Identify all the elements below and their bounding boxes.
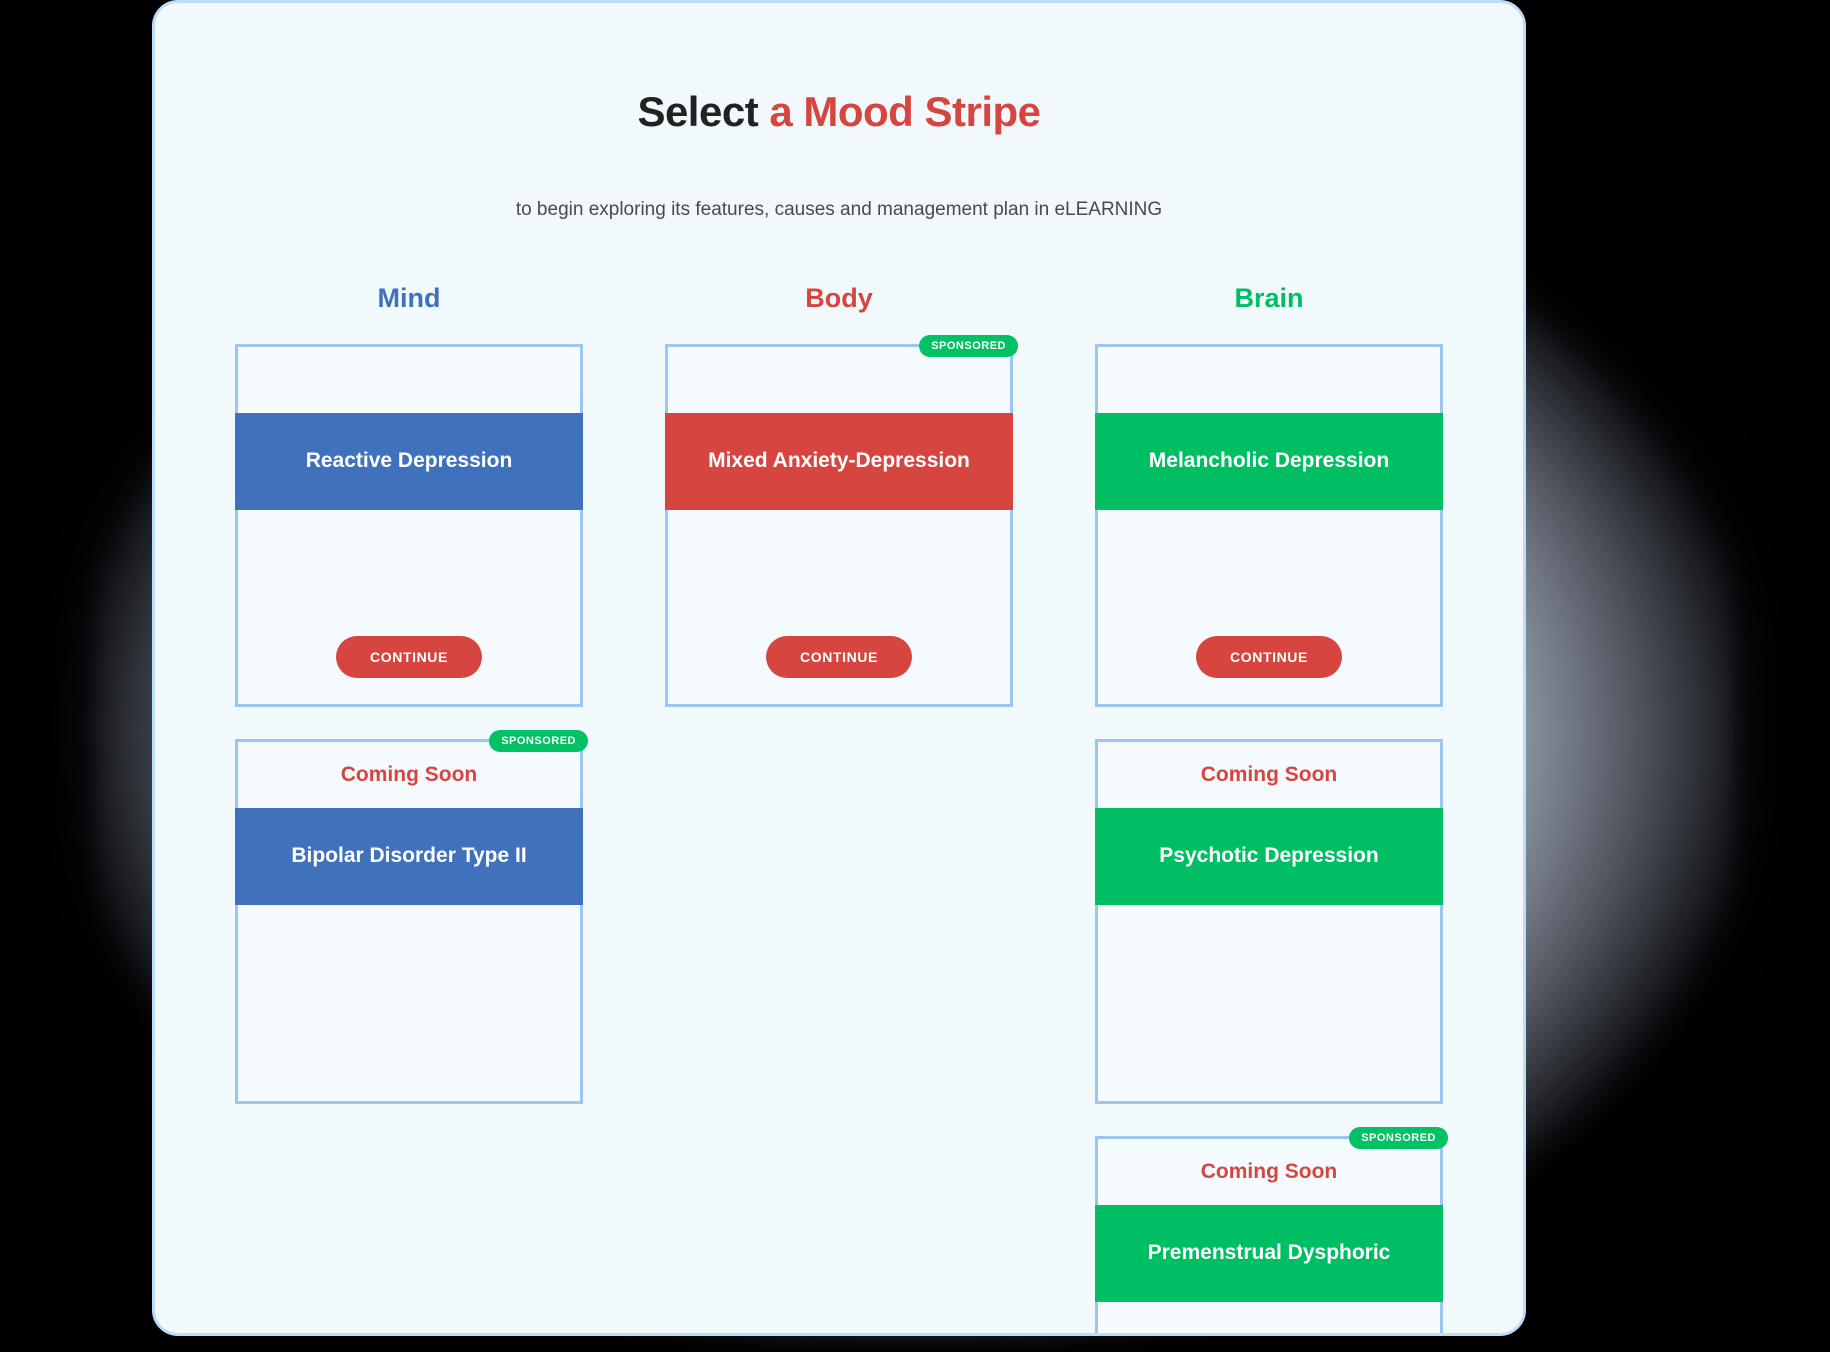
- coming-soon-label: Coming Soon: [341, 763, 477, 787]
- column-header-brain: Brain: [1095, 283, 1443, 314]
- card-stripe-label: Premenstrual Dysphoric: [1095, 1205, 1443, 1302]
- continue-button[interactable]: CONTINUE: [336, 636, 482, 678]
- card-psychotic-depression[interactable]: Coming Soon Psychotic Depression: [1095, 739, 1443, 1104]
- card-body: CONTINUE: [668, 510, 1010, 704]
- card-body: [1098, 905, 1440, 1097]
- column-header-body: Body: [665, 283, 1013, 314]
- coming-soon-label: Coming Soon: [1201, 1160, 1337, 1184]
- card-top: [238, 347, 580, 413]
- card-stripe-label: Mixed Anxiety-Depression: [665, 413, 1013, 510]
- card-reactive-depression[interactable]: Reactive Depression CONTINUE: [235, 344, 583, 707]
- card-bipolar-disorder-type-ii[interactable]: SPONSORED Coming Soon Bipolar Disorder T…: [235, 739, 583, 1104]
- card-premenstrual-dysphoric[interactable]: SPONSORED Coming Soon Premenstrual Dysph…: [1095, 1136, 1443, 1336]
- column-header-mind: Mind: [235, 283, 583, 314]
- card-body: [1098, 1302, 1440, 1336]
- column-body: Body SPONSORED Mixed Anxiety-Depression …: [665, 283, 1013, 1336]
- sponsored-badge: SPONSORED: [1349, 1127, 1448, 1149]
- card-top: [1098, 347, 1440, 413]
- column-mind: Mind Reactive Depression CONTINUE SPONSO…: [235, 283, 583, 1336]
- coming-soon-label: Coming Soon: [1201, 763, 1337, 787]
- card-body: [238, 905, 580, 1097]
- column-brain: Brain Melancholic Depression CONTINUE Co…: [1095, 283, 1443, 1336]
- continue-button[interactable]: CONTINUE: [1196, 636, 1342, 678]
- card-mixed-anxiety-depression[interactable]: SPONSORED Mixed Anxiety-Depression CONTI…: [665, 344, 1013, 707]
- card-stripe-label: Psychotic Depression: [1095, 808, 1443, 905]
- card-body: CONTINUE: [1098, 510, 1440, 704]
- card-stripe-label: Bipolar Disorder Type II: [235, 808, 583, 905]
- card-body: CONTINUE: [238, 510, 580, 704]
- sponsored-badge: SPONSORED: [489, 730, 588, 752]
- continue-button[interactable]: CONTINUE: [766, 636, 912, 678]
- card-stripe-label: Melancholic Depression: [1095, 413, 1443, 510]
- columns-container: Mind Reactive Depression CONTINUE SPONSO…: [155, 283, 1523, 1336]
- card-top: Coming Soon: [1098, 742, 1440, 808]
- page-title: Select a Mood Stripe: [155, 88, 1523, 136]
- card-stripe-label: Reactive Depression: [235, 413, 583, 510]
- page-title-accent: a Mood Stripe: [769, 88, 1040, 135]
- page-subtitle: to begin exploring its features, causes …: [155, 199, 1523, 221]
- content-panel: Select a Mood Stripe to begin exploring …: [152, 0, 1526, 1336]
- page-title-part1: Select: [637, 88, 769, 135]
- screen-root: Select a Mood Stripe to begin exploring …: [0, 0, 1830, 1352]
- sponsored-badge: SPONSORED: [919, 335, 1018, 357]
- card-melancholic-depression[interactable]: Melancholic Depression CONTINUE: [1095, 344, 1443, 707]
